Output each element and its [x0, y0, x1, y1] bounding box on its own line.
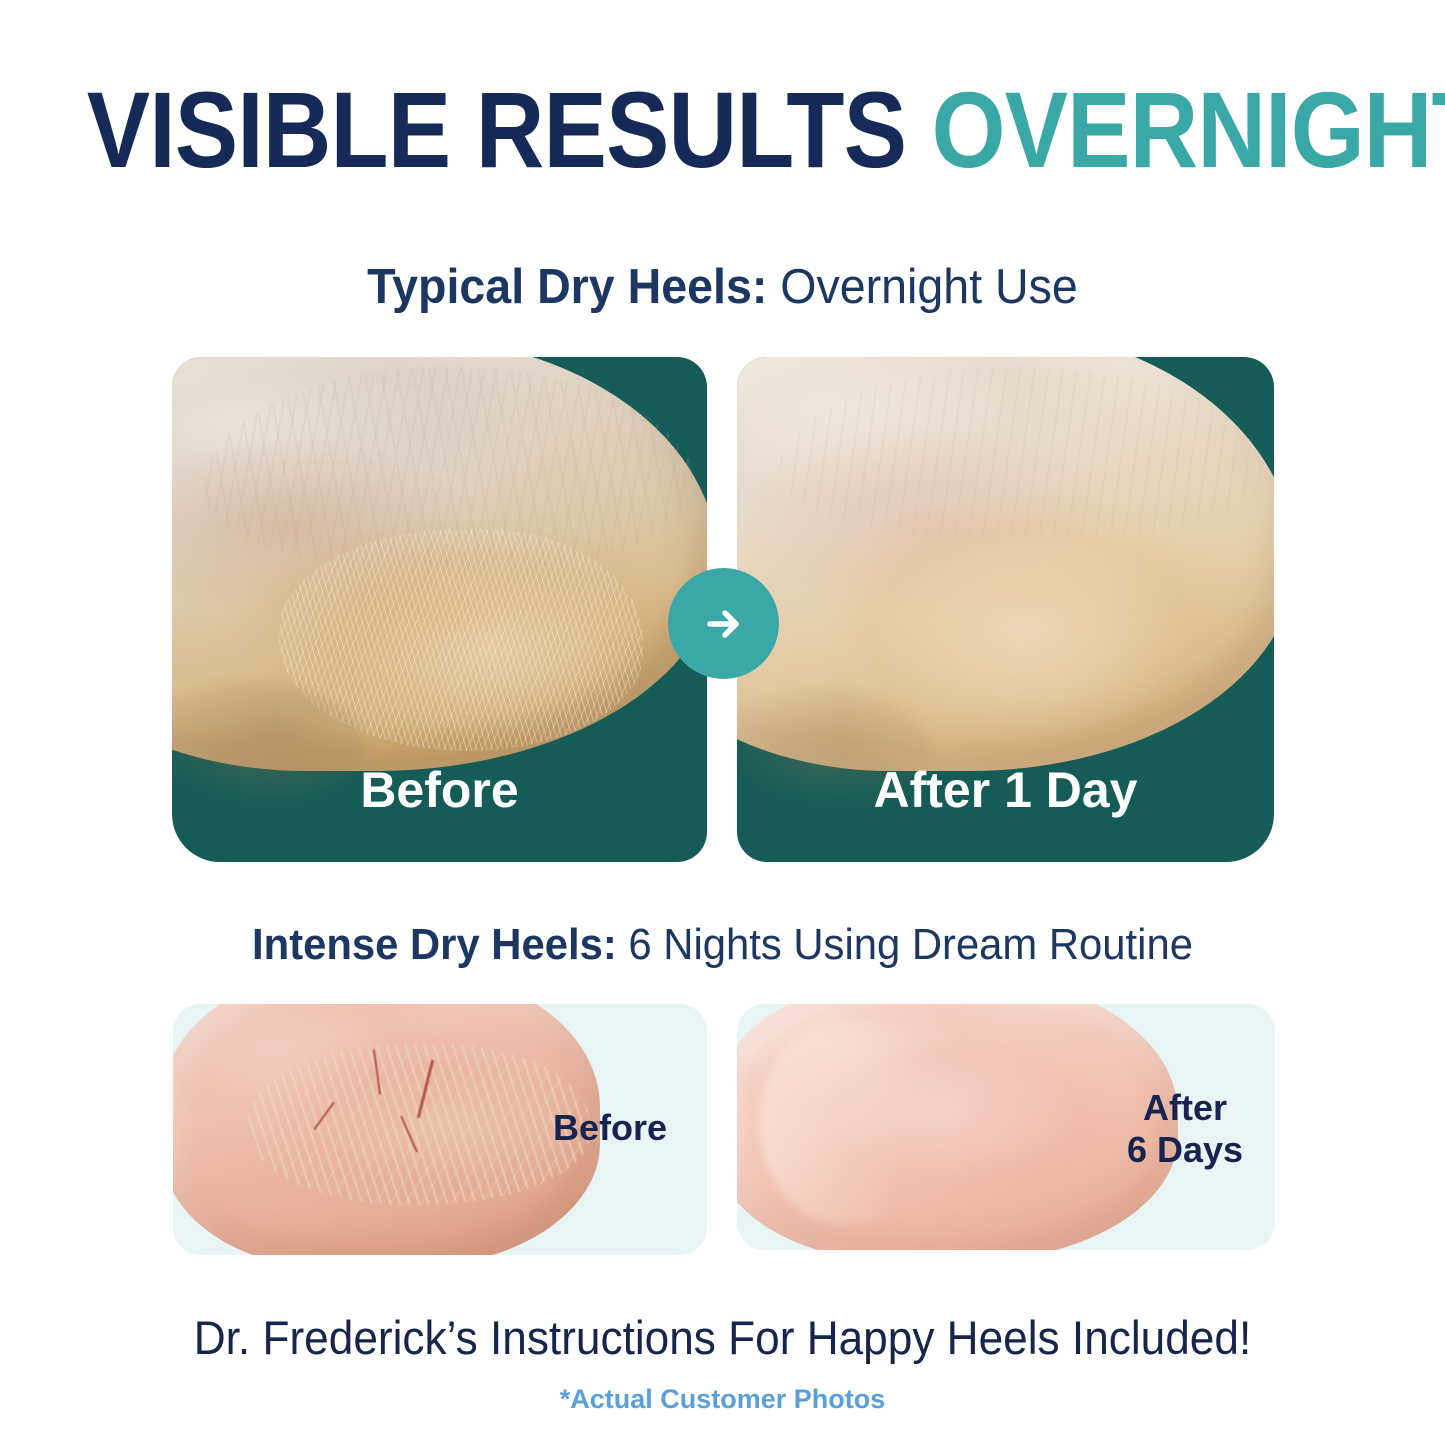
- footer-disclaimer-text: *Actual Customer Photos: [0, 1383, 1445, 1415]
- card-label-before: Before: [520, 1107, 700, 1149]
- subtitle-bottom-regular: 6 Nights Using Dream Routine: [617, 920, 1193, 969]
- subtitle-top-regular: Overnight Use: [767, 260, 1077, 314]
- subtitle-top-bold: Typical Dry Heels:: [367, 260, 767, 314]
- headline-part-1: VISIBLE RESULTS: [87, 69, 906, 190]
- subtitle-bottom-bold: Intense Dry Heels:: [252, 920, 617, 969]
- panel-label-before: Before: [172, 762, 707, 818]
- card-label-after-6-days: After 6 Days: [1095, 1087, 1275, 1171]
- headline-space: [906, 69, 932, 190]
- promo-graphic: VISIBLE RESULTS OVERNIGHT Typical Dry He…: [0, 0, 1445, 1445]
- subtitle-typical-dry-heels: Typical Dry Heels: Overnight Use: [36, 258, 1409, 316]
- arrow-right-icon: [668, 568, 779, 679]
- heel-moisture-sheen: [877, 539, 1188, 741]
- subtitle-intense-dry-heels: Intense Dry Heels: 6 Nights Using Dream …: [36, 918, 1409, 972]
- footer-instructions-text: Dr. Frederick’s Instructions For Happy H…: [43, 1310, 1401, 1366]
- heel-moisture-sheen: [834, 1058, 1081, 1181]
- headline-part-2: OVERNIGHT: [932, 69, 1445, 190]
- page-headline: VISIBLE RESULTS OVERNIGHT: [87, 74, 1359, 186]
- panel-label-after-1-day: After 1 Day: [737, 762, 1274, 818]
